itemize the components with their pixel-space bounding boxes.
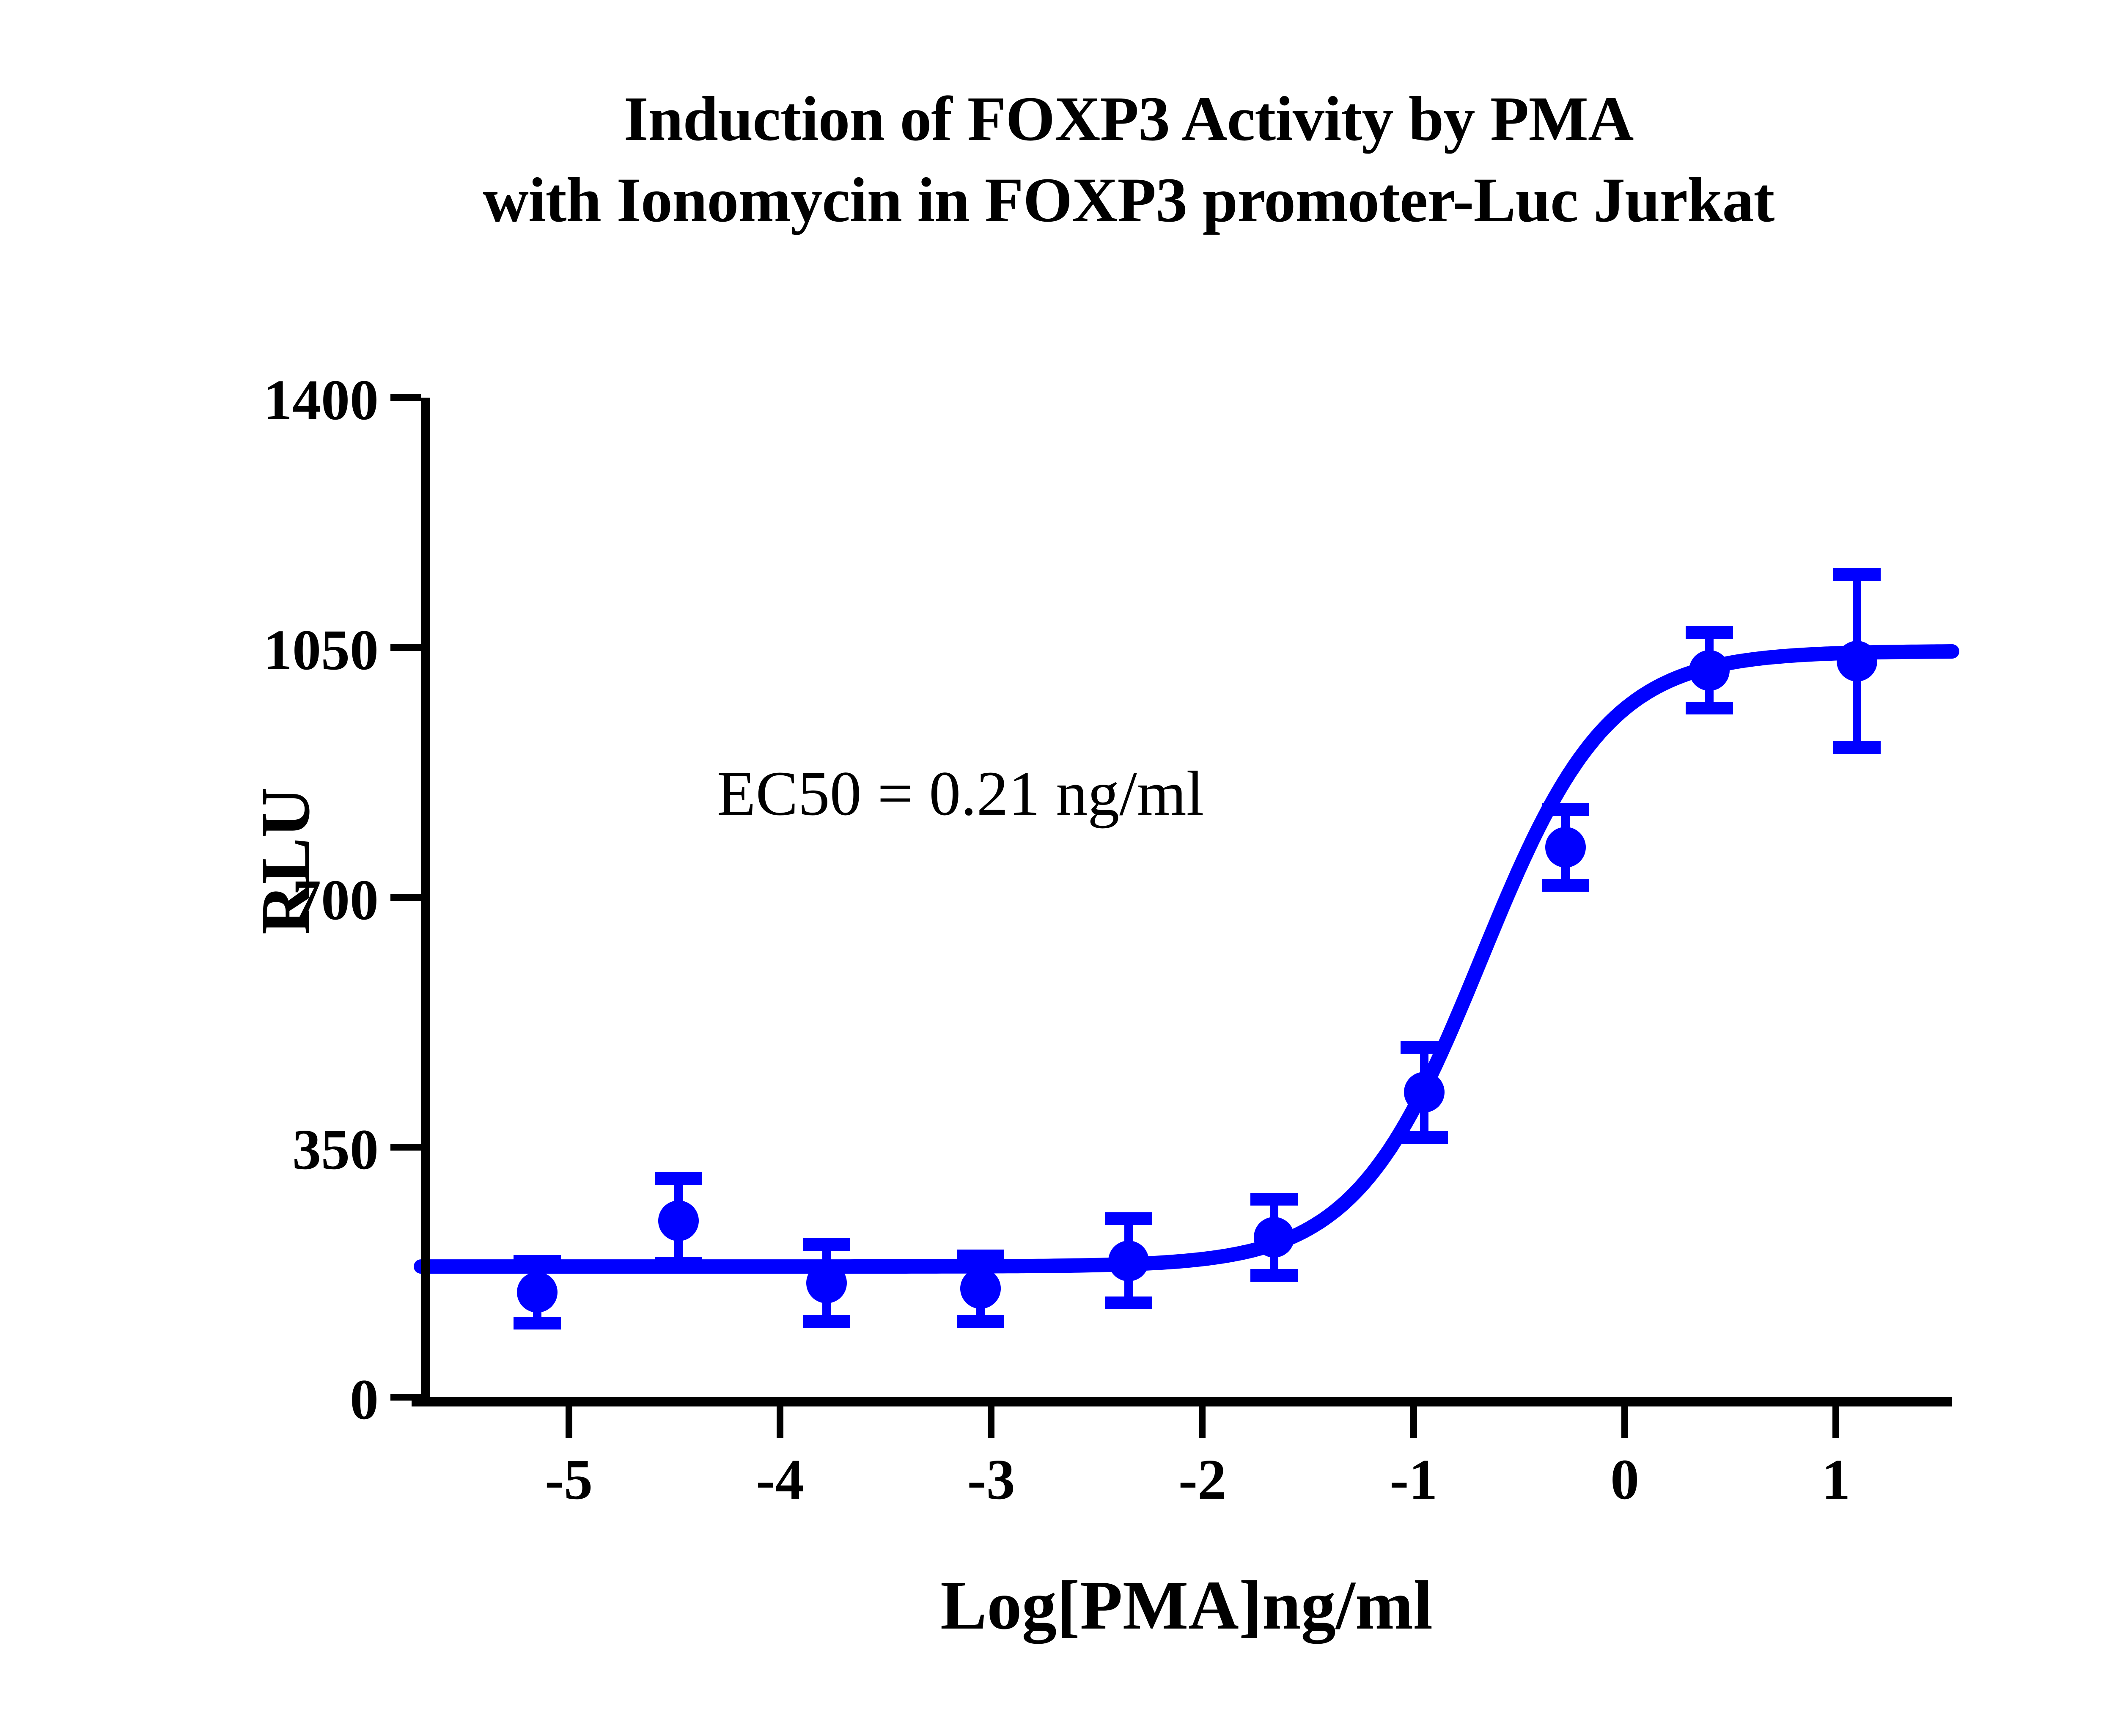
error-bar-cap	[1105, 1212, 1152, 1225]
data-point[interactable]	[1254, 1217, 1294, 1258]
x-tick	[988, 1406, 994, 1438]
data-point[interactable]	[1545, 827, 1586, 868]
data-point[interactable]	[960, 1268, 1001, 1309]
error-bar-cap	[655, 1172, 702, 1185]
y-axis-line	[421, 398, 430, 1406]
x-tick-label: -1	[1350, 1447, 1477, 1513]
error-bar-cap	[1833, 568, 1881, 581]
error-bar-cap	[1250, 1193, 1298, 1206]
error-bar-cap	[1542, 803, 1589, 816]
y-tick-label: 700	[99, 867, 379, 933]
page-title: Induction of FOXP3 Activity by PMA with …	[0, 78, 2115, 241]
x-axis-line	[412, 1397, 1952, 1406]
error-bar-cap	[1542, 879, 1589, 892]
x-tick-label: 0	[1561, 1447, 1688, 1513]
x-tick-label: 1	[1772, 1447, 1899, 1513]
x-tick	[777, 1406, 783, 1438]
x-axis-title: Log[PMA]ng/ml	[421, 1565, 1952, 1645]
y-tick	[390, 894, 421, 901]
error-bar-cap	[514, 1255, 561, 1268]
x-tick	[1621, 1406, 1628, 1438]
x-tick-label: -2	[1139, 1447, 1266, 1513]
data-point[interactable]	[806, 1263, 847, 1303]
y-tick-label: 1050	[99, 617, 379, 683]
y-tick	[390, 394, 421, 401]
x-tick	[1832, 1406, 1839, 1438]
error-bar-cap	[655, 1257, 702, 1269]
error-bar-cap	[1686, 626, 1733, 639]
ec50-annotation: EC50 = 0.21 ng/ml	[717, 757, 1204, 830]
fit-curve	[421, 398, 1952, 1397]
y-tick-label: 0	[99, 1367, 379, 1433]
x-tick-label: -3	[928, 1447, 1055, 1513]
error-bar-cap	[957, 1250, 1004, 1262]
x-tick-label: -5	[505, 1447, 632, 1513]
x-tick	[566, 1406, 572, 1438]
error-bar-cap	[1401, 1131, 1448, 1144]
error-bar-cap	[803, 1238, 850, 1251]
data-point[interactable]	[1689, 650, 1730, 691]
y-tick-label: 350	[99, 1117, 379, 1183]
plot-area: 035070010501400 -5-4-3-2-101 RLU Log[PMA…	[421, 398, 1952, 1397]
y-tick	[390, 644, 421, 651]
error-bar-cap	[1105, 1297, 1152, 1309]
x-tick	[1410, 1406, 1417, 1438]
y-tick-label: 1400	[99, 367, 379, 433]
error-bar-cap	[957, 1315, 1004, 1328]
data-point[interactable]	[1837, 641, 1877, 681]
data-point[interactable]	[1108, 1241, 1149, 1281]
y-tick	[390, 1394, 421, 1401]
error-bar-cap	[1686, 702, 1733, 714]
data-point[interactable]	[1404, 1072, 1445, 1112]
error-bar-cap	[1401, 1041, 1448, 1054]
x-tick	[1199, 1406, 1206, 1438]
data-point[interactable]	[658, 1200, 699, 1241]
x-tick-label: -4	[717, 1447, 843, 1513]
y-tick	[390, 1144, 421, 1151]
error-bar-cap	[1833, 741, 1881, 754]
y-axis-title: RLU	[245, 670, 326, 1051]
error-bar-cap	[803, 1315, 850, 1328]
data-point[interactable]	[517, 1272, 558, 1313]
error-bar-cap	[1250, 1269, 1298, 1282]
error-bar-cap	[514, 1317, 561, 1329]
chart-page: Induction of FOXP3 Activity by PMA with …	[0, 0, 2115, 1736]
